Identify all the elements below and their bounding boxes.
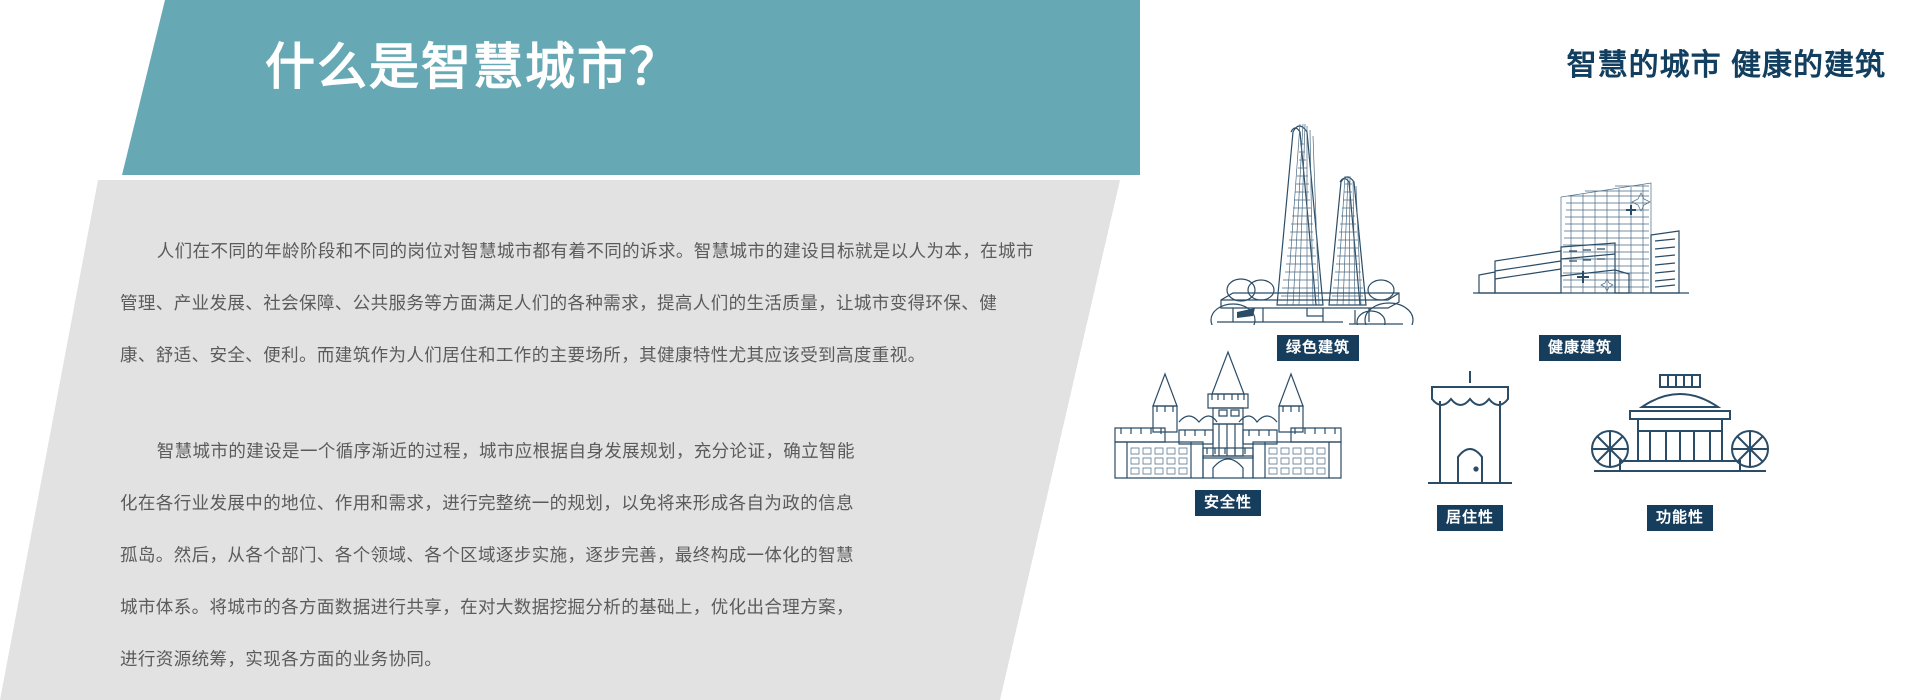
icon-cell-health-building: 健康建筑: [1450, 175, 1710, 361]
section-heading: 智慧的城市 健康的建筑: [1567, 40, 1886, 84]
paragraph-2-line-5: 进行资源统筹，实现各方面的业务协同。: [120, 633, 1080, 685]
paragraph-2-line-3: 孤岛。然后，从各个部门、各个领域、各个区域逐步实施，逐步完善，最终构成一体化的智…: [120, 529, 1080, 581]
right-column: 智慧的城市 健康的建筑: [1120, 0, 1920, 700]
icon-cell-green-building: 绿色建筑: [1188, 110, 1448, 361]
left-column: 什么是智慧城市？ 人们在不同的年龄阶段和不同的岗位对智慧城市都有着不同的诉求。智…: [0, 0, 1120, 700]
icon-label-safety: 安全性: [1195, 490, 1261, 516]
pavilion-icon: [1580, 365, 1780, 495]
paragraph-2-line-4: 城市体系。将城市的各方面数据进行共享，在对大数据挖掘分析的基础上，优化出合理方案…: [120, 581, 1080, 633]
paragraph-1-line-1: 人们在不同的年龄阶段和不同的岗位对智慧城市都有着不同的诉求。智慧城市的建设目标就…: [120, 225, 1080, 277]
paragraph-2-line-1: 智慧城市的建设是一个循序渐近的过程，城市应根据自身发展规划，充分论证，确立智能: [120, 425, 1080, 477]
house-icon: [1410, 365, 1530, 495]
paragraph-2-line-2: 化在各行业发展中的地位、作用和需求，进行完整统一的规划，以免将来形成各自为政的信…: [120, 477, 1080, 529]
paragraph-2-line-1-text: 智慧城市的建设是一个循序渐近的过程，城市应根据自身发展规划，充分论证，确立智能: [157, 441, 855, 461]
castle-icon: [1103, 350, 1353, 480]
icon-cell-safety: 安全性: [1078, 350, 1378, 516]
icon-grid: 绿色建筑: [1120, 110, 1920, 670]
title-banner: 什么是智慧城市？: [0, 0, 1140, 175]
icon-label-livability: 居住性: [1437, 505, 1503, 531]
paragraph-1-line-1-text: 人们在不同的年龄阶段和不同的岗位对智慧城市都有着不同的诉求。智慧城市的建设目标就…: [157, 241, 1034, 261]
icon-label-health-building: 健康建筑: [1539, 335, 1621, 361]
twin-towers-icon: [1203, 110, 1433, 325]
page-title: 什么是智慧城市？: [265, 40, 681, 95]
paragraph-2: 智慧城市的建设是一个循序渐近的过程，城市应根据自身发展规划，充分论证，确立智能 …: [120, 425, 1080, 685]
icon-label-functionality: 功能性: [1647, 505, 1713, 531]
paragraph-1-line-3: 康、舒适、安全、便利。而建筑作为人们居住和工作的主要场所，其健康特性尤其应该受到…: [120, 329, 1080, 381]
hospital-tower-icon: [1465, 175, 1695, 325]
paragraph-1-line-2: 管理、产业发展、社会保障、公共服务等方面满足人们的各种需求，提高人们的生活质量，…: [120, 277, 1080, 329]
body-text: 人们在不同的年龄阶段和不同的岗位对智慧城市都有着不同的诉求。智慧城市的建设目标就…: [120, 225, 1080, 685]
icon-cell-livability: 居住性: [1370, 365, 1570, 531]
icon-cell-functionality: 功能性: [1550, 365, 1810, 531]
paragraph-1: 人们在不同的年龄阶段和不同的岗位对智慧城市都有着不同的诉求。智慧城市的建设目标就…: [120, 225, 1080, 381]
